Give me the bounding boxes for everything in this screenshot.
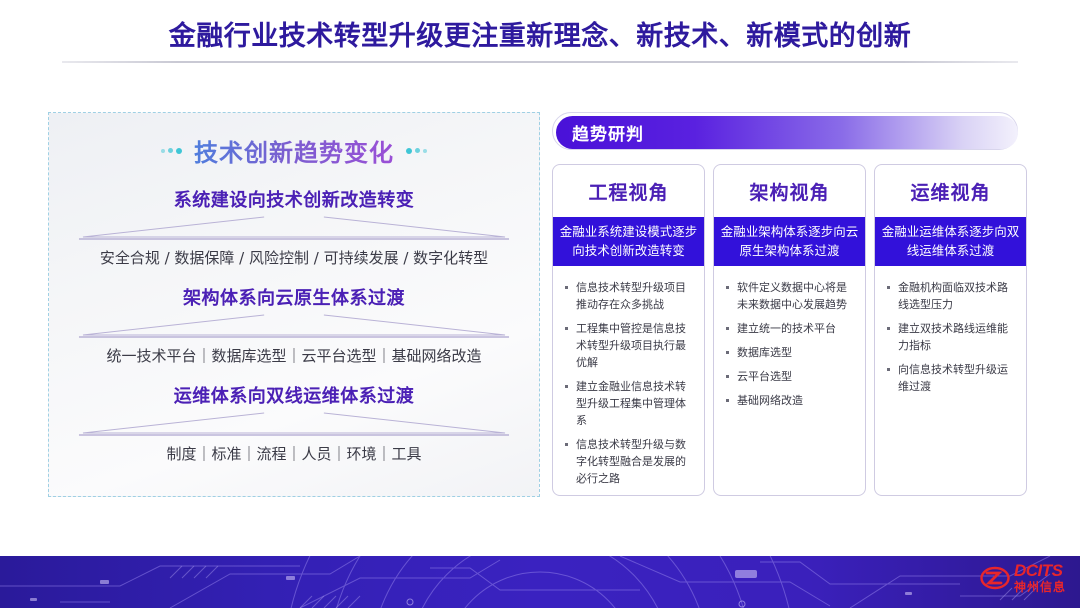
list-item: 软件定义数据中心将是未来数据中心发展趋势 [722,279,855,313]
trend-analysis-panel: 趋势研判 工程视角 金融业系统建设模式逐步向技术创新改造转变 信息技术转型升级项… [552,112,1032,497]
circuit-pattern-icon [0,556,1080,608]
perspective-card-subtitle: 金融业运维体系逐步向双线运维体系过渡 [875,217,1026,266]
trend-analysis-header-label: 趋势研判 [572,120,644,145]
trend-change-heading: 技术创新趋势变化 [49,133,539,168]
list-item: 金融机构面临双技术路线选型压力 [883,279,1016,313]
perspective-card-title: 工程视角 [553,165,704,217]
list-item: 云平台选型 [722,368,855,385]
trend-block: 架构体系向云原生体系过渡 统一技术平台｜数据库选型｜云平台选型｜基础网络改造 [49,284,539,366]
perspective-card-subtitle: 金融业系统建设模式逐步向技术创新改造转变 [553,217,704,266]
list-item: 信息技术转型升级项目推动存在众多挑战 [561,279,694,313]
trend-block-items: 安全合规 / 数据保障 / 风险控制 / 可持续发展 / 数字化转型 [49,247,539,268]
trend-analysis-header: 趋势研判 [552,112,1020,152]
funnel-decoration-icon [75,412,513,438]
list-item: 建立统一的技术平台 [722,320,855,337]
list-item: 建立双技术路线运维能力指标 [883,320,1016,354]
company-logo: DCITS 神州信息 [980,562,1066,593]
trend-block-title: 架构体系向云原生体系过渡 [49,284,539,310]
perspective-card[interactable]: 架构视角 金融业架构体系逐步向云原生架构体系过渡 软件定义数据中心将是未来数据中… [713,164,866,496]
dcits-mark-icon [980,563,1010,593]
trend-block-title: 运维体系向双线运维体系过渡 [49,382,539,408]
trend-block-items: 制度｜标准｜流程｜人员｜环境｜工具 [49,443,539,464]
page-title: 金融行业技术转型升级更注重新理念、新技术、新模式的创新 [0,14,1080,53]
list-item: 建立金融业信息技术转型升级工程集中管理体系 [561,378,694,429]
list-item: 基础网络改造 [722,392,855,409]
list-item: 工程集中管控是信息技术转型升级项目执行最优解 [561,320,694,371]
trend-change-panel: 技术创新趋势变化 系统建设向技术创新改造转变 安全合规 / 数据保障 / 风险控… [48,112,540,497]
title-divider [62,61,1018,63]
perspective-card[interactable]: 工程视角 金融业系统建设模式逐步向技术创新改造转变 信息技术转型升级项目推动存在… [552,164,705,496]
trend-change-heading-label: 技术创新趋势变化 [194,133,394,168]
list-item: 数据库选型 [722,344,855,361]
funnel-decoration-icon [75,216,513,242]
perspective-card-list: 工程视角 金融业系统建设模式逐步向技术创新改造转变 信息技术转型升级项目推动存在… [552,164,1032,496]
perspective-card-bullets: 信息技术转型升级项目推动存在众多挑战 工程集中管控是信息技术转型升级项目执行最优… [553,266,704,495]
logo-en-label: DCITS [1014,562,1066,579]
pill-fill: 趋势研判 [556,116,1018,149]
list-item: 向信息技术转型升级运维过渡 [883,361,1016,395]
logo-cn-label: 神州信息 [1014,581,1066,593]
footer-band: DCITS 神州信息 [0,556,1080,608]
trend-block: 运维体系向双线运维体系过渡 制度｜标准｜流程｜人员｜环境｜工具 [49,382,539,464]
trend-block: 系统建设向技术创新改造转变 安全合规 / 数据保障 / 风险控制 / 可持续发展… [49,186,539,268]
perspective-card-subtitle: 金融业架构体系逐步向云原生架构体系过渡 [714,217,865,266]
perspective-card-title: 架构视角 [714,165,865,217]
dot-decoration-right-icon [406,148,427,154]
perspective-card[interactable]: 运维视角 金融业运维体系逐步向双线运维体系过渡 金融机构面临双技术路线选型压力 … [874,164,1027,496]
trend-block-items: 统一技术平台｜数据库选型｜云平台选型｜基础网络改造 [49,345,539,366]
dot-decoration-left-icon [161,148,182,154]
list-item: 信息技术转型升级与数字化转型融合是发展的必行之路 [561,436,694,487]
funnel-decoration-icon [75,314,513,340]
perspective-card-title: 运维视角 [875,165,1026,217]
logo-text: DCITS 神州信息 [1014,562,1066,593]
perspective-card-bullets: 金融机构面临双技术路线选型压力 建立双技术路线运维能力指标 向信息技术转型升级运… [875,266,1026,495]
perspective-card-bullets: 软件定义数据中心将是未来数据中心发展趋势 建立统一的技术平台 数据库选型 云平台… [714,266,865,495]
trend-block-title: 系统建设向技术创新改造转变 [49,186,539,212]
